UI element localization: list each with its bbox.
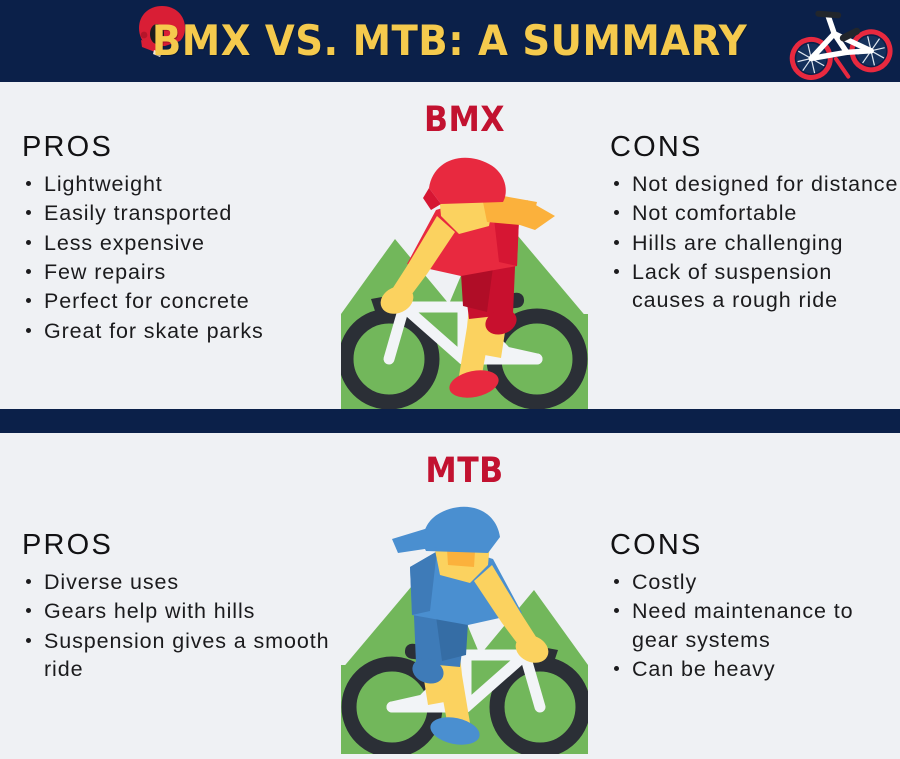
page-title: BMX VS. MTB: A SUMMARY <box>152 20 747 62</box>
bullet-icon <box>614 210 619 215</box>
list-item-text: Need maintenance to gear systems <box>632 599 854 651</box>
page-header: BMX VS. MTB: A SUMMARY <box>0 0 900 82</box>
bullet-icon <box>614 240 619 245</box>
list-item-text: Costly <box>632 570 697 594</box>
list-item: Costly <box>610 568 900 596</box>
list-item: Can be heavy <box>610 655 900 683</box>
list-item-text: Suspension gives a smooth ride <box>44 629 329 681</box>
mtb-pros-column: PROS Diverse uses Gears help with hills … <box>22 530 342 684</box>
list-item-text: Lack of suspension causes a rough ride <box>632 260 838 312</box>
bullet-icon <box>614 666 619 671</box>
section-divider <box>0 409 900 433</box>
bullet-icon <box>26 298 31 303</box>
list-item: Suspension gives a smooth ride <box>22 627 342 684</box>
list-item: Few repairs <box>22 258 342 286</box>
list-item-text: Few repairs <box>44 260 166 284</box>
list-item: Lack of suspension causes a rough ride <box>610 258 900 315</box>
bullet-icon <box>26 240 31 245</box>
mtb-label: MTB <box>353 451 575 491</box>
list-item: Less expensive <box>22 229 342 257</box>
bullet-icon <box>26 579 31 584</box>
list-item-text: Not designed for distance <box>632 172 898 196</box>
bullet-icon <box>26 210 31 215</box>
list-item: Perfect for concrete <box>22 287 342 315</box>
bmx-pros-column: PROS Lightweight Easily transported Less… <box>22 132 342 346</box>
list-item-text: Easily transported <box>44 201 232 225</box>
bmx-cons-column: CONS Not designed for distance Not comfo… <box>610 132 900 316</box>
list-item: Lightweight <box>22 170 342 198</box>
bullet-icon <box>26 181 31 186</box>
list-item-text: Less expensive <box>44 231 205 255</box>
list-item: Hills are challenging <box>610 229 900 257</box>
list-item-text: Can be heavy <box>632 657 775 681</box>
list-item: Great for skate parks <box>22 317 342 345</box>
list-item-text: Not comfortable <box>632 201 797 225</box>
bmx-rider-illustration <box>341 144 588 409</box>
mtb-illustration-panel: MTB <box>341 433 588 754</box>
bullet-icon <box>26 328 31 333</box>
bmx-pros-heading: PROS <box>22 132 342 164</box>
mtb-cons-list: Costly Need maintenance to gear systems … <box>610 568 900 684</box>
section-mtb: PROS Diverse uses Gears help with hills … <box>0 433 900 754</box>
list-item: Not designed for distance <box>610 170 900 198</box>
list-item-text: Perfect for concrete <box>44 289 250 313</box>
bullet-icon <box>26 638 31 643</box>
list-item: Gears help with hills <box>22 597 342 625</box>
list-item-text: Lightweight <box>44 172 163 196</box>
bmx-bike-icon <box>782 2 894 80</box>
bullet-icon <box>614 579 619 584</box>
bmx-cons-list: Not designed for distance Not comfortabl… <box>610 170 900 315</box>
mtb-cons-column: CONS Costly Need maintenance to gear sys… <box>610 530 900 684</box>
bmx-illustration-panel: BMX <box>341 82 588 409</box>
bmx-pros-list: Lightweight Easily transported Less expe… <box>22 170 342 345</box>
mtb-pros-heading: PROS <box>22 530 342 562</box>
list-item-text: Gears help with hills <box>44 599 255 623</box>
list-item-text: Hills are challenging <box>632 231 843 255</box>
section-bmx: PROS Lightweight Easily transported Less… <box>0 82 900 409</box>
list-item: Not comfortable <box>610 199 900 227</box>
mtb-cons-heading: CONS <box>610 530 900 562</box>
mtb-pros-list: Diverse uses Gears help with hills Suspe… <box>22 568 342 684</box>
list-item: Easily transported <box>22 199 342 227</box>
bullet-icon <box>614 181 619 186</box>
bullet-icon <box>614 608 619 613</box>
bmx-label: BMX <box>353 100 575 140</box>
list-item-text: Great for skate parks <box>44 319 264 343</box>
list-item-text: Diverse uses <box>44 570 179 594</box>
list-item: Diverse uses <box>22 568 342 596</box>
mtb-rider-illustration <box>341 495 588 754</box>
bmx-cons-heading: CONS <box>610 132 900 164</box>
bullet-icon <box>614 269 619 274</box>
bullet-icon <box>26 608 31 613</box>
bullet-icon <box>26 269 31 274</box>
list-item: Need maintenance to gear systems <box>610 597 900 654</box>
